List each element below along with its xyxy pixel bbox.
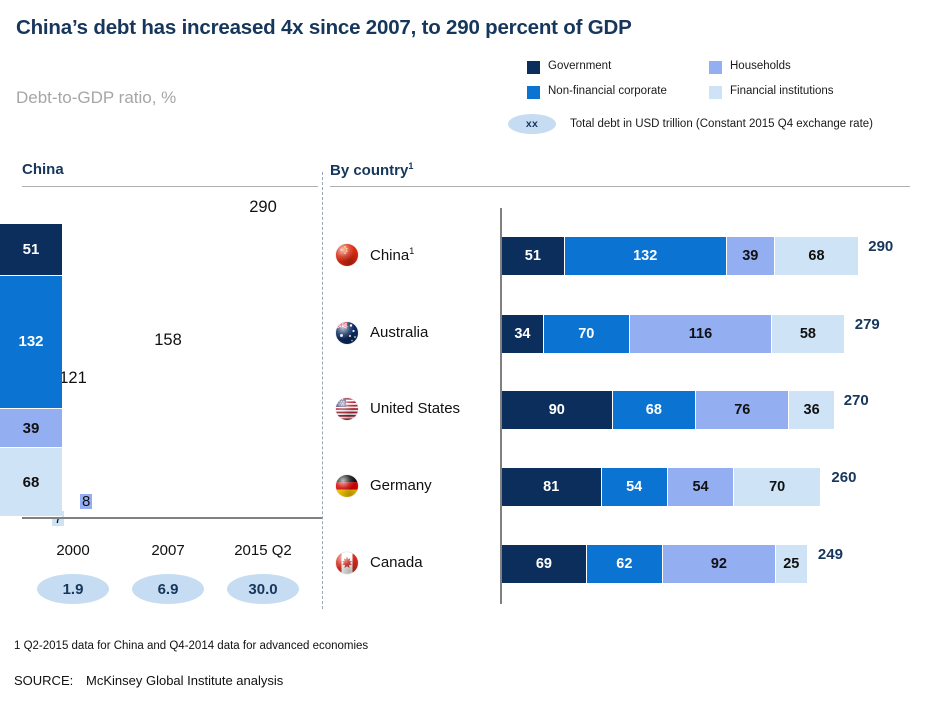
bar-segment: 116 [630,315,773,353]
bar-segment: 76 [696,391,789,429]
china-column-chart: 832312120001.9782420724215820076.9683913… [0,0,330,705]
source-text: McKinsey Global Institute analysis [86,673,283,688]
bar-segment: 36 [789,391,833,429]
legend-swatch-government [527,61,540,74]
legend-item-financial-institutions: Financial institutions [709,85,834,99]
china-axis-label: 2007 [128,542,208,559]
legend-item-households: Households [709,60,791,74]
legend-label-nonfinancial-corporate: Non-financial corporate [548,85,667,97]
by-country-row: Australia347011658279 [330,306,930,362]
legend-total-debt: xx Total debt in USD trillion (Constant … [508,114,873,134]
country-label-text: Canada [370,554,423,571]
legend-swatch-financial-institutions [709,86,722,99]
flag-de-icon [336,475,358,497]
country-label-text: United States [370,400,460,417]
bar-track: 90687636 [502,391,834,429]
bar-segment: 39 [727,237,775,275]
flag-cn-icon [336,244,358,266]
bar-segment: 68 [613,391,697,429]
country-label: Canada [370,554,423,571]
china-segment: 68 [0,448,62,517]
by-country-total: 270 [844,392,869,409]
bar-track: 347011658 [502,315,845,353]
source-line: SOURCE:McKinsey Global Institute analysi… [14,673,283,688]
bar-track: 511323968 [502,237,858,275]
bar-segment: 51 [502,237,565,275]
legend-item-nonfinancial-corporate: Non-financial corporate [527,85,709,99]
legend-badge-oval: xx [508,114,556,134]
bar-track: 81545470 [502,468,821,506]
china-total-debt-badge: 30.0 [227,574,299,604]
china-segment: 51 [0,224,62,276]
bar-segment: 68 [775,237,859,275]
bar-segment: 25 [776,545,807,583]
by-country-row: Germany81545470260 [330,459,930,515]
by-country-total: 249 [818,546,843,563]
bar-track: 69629225 [502,545,808,583]
country-label: United States [370,400,460,417]
flag-au-icon [336,322,358,344]
panel-title-by-country-superscript: 1 [408,161,413,171]
bar-segment: 70 [544,315,630,353]
bar-segment: 34 [502,315,544,353]
legend-item-government: Government [527,60,709,74]
china-segment-callout: 8 [80,494,92,509]
legend-row: Non-financial corporate Financial instit… [527,85,927,110]
legend-swatch-nonfinancial-corporate [527,86,540,99]
china-column-total: 158 [137,331,199,350]
by-country-total: 290 [868,238,893,255]
china-axis-label: 2015 Q2 [223,542,303,559]
legend-label-households: Households [730,60,791,72]
flag-us-icon [336,398,358,420]
panel-title-by-country: By country1 [330,161,413,179]
by-country-total: 279 [855,316,880,333]
country-label: Australia [370,324,428,341]
china-total-debt-badge: 6.9 [132,574,204,604]
bar-segment: 90 [502,391,613,429]
bar-segment: 58 [772,315,843,353]
legend-badge-note: Total debt in USD trillion (Constant 201… [570,118,873,130]
bar-segment: 54 [668,468,734,506]
bar-segment: 62 [587,545,663,583]
panel-rule-by-country [330,186,910,187]
by-country-total: 260 [831,469,856,486]
legend: Government Households Non-financial corp… [527,60,927,110]
footnote: 1 Q2-2015 data for China and Q4-2014 dat… [14,640,368,652]
china-total-debt-badge: 1.9 [37,574,109,604]
legend-label-financial-institutions: Financial institutions [730,85,834,97]
china-segment: 132 [0,276,62,409]
by-country-row: China1511323968290 [330,228,930,284]
country-label-text: Germany [370,477,432,494]
bar-segment: 92 [663,545,776,583]
china-axis-label: 2000 [33,542,113,559]
by-country-row: United States90687636270 [330,382,930,438]
china-segment: 39 [0,409,62,448]
legend-row: Government Households [527,60,927,85]
china-column-total: 290 [232,198,294,217]
legend-label-government: Government [548,60,611,72]
china-baseline-axis [22,517,322,519]
country-label-text: Australia [370,324,428,341]
country-label: China1 [370,246,414,264]
bar-segment: 70 [734,468,820,506]
flag-ca-icon [336,552,358,574]
legend-swatch-households [709,61,722,74]
bar-segment: 132 [565,237,727,275]
country-label: Germany [370,477,432,494]
by-country-row: Canada69629225249 [330,536,930,592]
bar-segment: 81 [502,468,602,506]
country-label-superscript: 1 [409,246,414,256]
bar-segment: 69 [502,545,587,583]
source-label: SOURCE: [14,673,86,688]
country-label-text: China [370,247,409,264]
bar-segment: 54 [602,468,668,506]
panel-title-by-country-text: By country [330,162,408,179]
